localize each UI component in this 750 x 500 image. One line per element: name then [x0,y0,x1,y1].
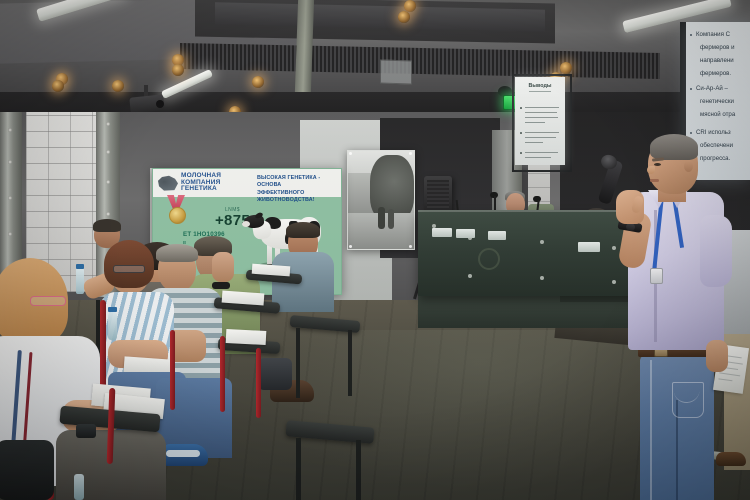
slide-bullet-text: Си-Ар-Ай – [696,84,728,95]
speaker-name-badge [650,268,663,284]
speaker-nose [647,166,655,174]
projection-screen-conclusions: Выводы [515,77,565,165]
track-spotlight-icon [172,64,184,76]
track-spotlight-icon [398,11,410,23]
banner-company-name: МОЛОЧНАЯ КОМПАНИЯ ГЕНЕТИКА [181,173,251,193]
water-bottle [74,474,84,500]
sneaker-stripe [166,450,200,457]
audience-hair [93,219,121,232]
speaker-ear [684,160,693,172]
slide-bullet-dot [690,132,692,134]
slide-bullet-dot [520,132,522,134]
eyeglasses-icon [30,296,66,306]
bolt-icon [8,196,12,200]
chair-frame-red[interactable] [170,330,175,410]
speaker-eye [654,163,661,166]
photo-clip-icon [409,152,412,155]
track-spotlight-icon [112,80,124,92]
water-bottle [108,312,117,340]
slide-text-line [525,107,559,108]
screw-icon [540,276,544,280]
slide-text-line [525,137,556,138]
track-spotlight-icon [252,76,264,88]
slide-bullet-text: обеспечени [700,141,733,152]
chair-leg[interactable] [296,328,300,398]
background-person-shoe [716,452,746,466]
slide-bullet-text: направлени [700,56,734,67]
slide-title: Выводы [515,83,565,89]
slide-bullet-text: мясной отра [700,110,735,121]
chair-leg[interactable] [296,438,301,500]
photo-scene: МОЛОЧНАЯ КОМПАНИЯ ГЕНЕТИКА ВЫСОКАЯ ГЕНЕТ… [0,0,750,500]
slide-text-line [525,152,558,153]
photo-figure [378,207,385,229]
photo-clip-icon [409,245,412,248]
screw-icon [540,240,544,244]
slide-bullet-text: фермеров и [700,43,734,54]
slide-bullet-text: Компания C [696,30,730,41]
banner-slogan: ВЫСОКАЯ ГЕНЕТИКА - ОСНОВА ЭФФЕКТИВНОГО Ж… [257,175,339,205]
chair-leg[interactable] [356,440,361,500]
audience-hair [104,240,154,288]
tablet-arm-hinge [76,424,96,438]
slide-text-line [525,112,557,113]
speaker-shirt-sleeve [700,215,732,287]
chair-frame-red[interactable] [100,300,106,396]
slide-bullet-text: CRI использ [696,128,731,139]
bolt-icon [8,232,12,236]
photo-clip-icon [349,245,352,248]
screw-icon [468,274,472,278]
banner-company-line-3: ГЕНЕТИКА [181,186,251,193]
audience-leg [258,358,292,390]
audience-hand [212,252,234,282]
track-spotlight-icon [52,80,64,92]
chair-seat[interactable] [0,440,54,500]
slide-text-line [525,117,558,118]
bolt-icon [106,180,110,184]
bolt-icon [106,212,110,216]
bolt-icon [8,160,12,164]
speaker-hair [650,134,698,160]
bottle-cap [108,307,117,312]
chair-frame-red[interactable] [256,348,261,418]
slide-text-line [525,132,559,133]
bolt-icon [8,128,12,132]
panel-table-emblem [478,248,500,270]
chair-leg[interactable] [348,330,352,396]
cow-leg [267,245,272,265]
speaker-jeans-seam [650,360,652,500]
slide-bullet-text: генетически [700,97,734,108]
audience-hair [156,244,198,262]
award-medal-icon [169,207,186,224]
ceiling-vent [380,59,412,84]
audience-hair [286,222,320,238]
track-spotlight-icon [404,0,416,12]
pa-speaker-grille [427,180,449,210]
name-tent-card [488,231,506,240]
photo-clip-icon [349,152,352,155]
slide-bullet-dot [690,34,692,36]
name-tent-card [578,242,600,252]
paper-text-line [719,372,740,376]
slide-text-line [525,122,545,123]
slide-bullet-text: прогресса. [700,154,730,165]
slide-bullet-text: фермеров. [700,69,731,80]
eyeglasses-icon [113,265,145,273]
wall-photograph [347,150,415,250]
speaker-hand [706,340,728,372]
bottle-cap [76,264,84,269]
wristwatch-icon [212,282,230,289]
slide-bullet-dot [690,88,692,90]
speaker-mouth [650,179,659,182]
water-bottle [76,268,84,294]
bolt-icon [106,150,110,154]
paper-text-line [718,378,732,381]
slide-bullet-dot [520,152,522,154]
banner-slogan-line-1: ВЫСОКАЯ ГЕНЕТИКА - ОСНОВА [257,175,339,190]
slide-text-line [525,157,551,158]
track-spotlight-icon [560,62,572,74]
name-tent-card [432,228,452,237]
photo-figure [388,209,394,229]
handout-paper[interactable] [226,329,267,345]
slide-text-line [525,142,543,143]
slide-title-rule [529,91,551,92]
bolt-icon [106,122,110,126]
screw-icon [612,280,616,284]
chair-frame-red[interactable] [220,336,225,412]
slide-bullet-dot [520,107,522,109]
cow-muzzle [242,221,250,227]
screw-icon [612,246,616,250]
name-tent-card [456,229,475,238]
projector-lens-icon [156,100,164,108]
